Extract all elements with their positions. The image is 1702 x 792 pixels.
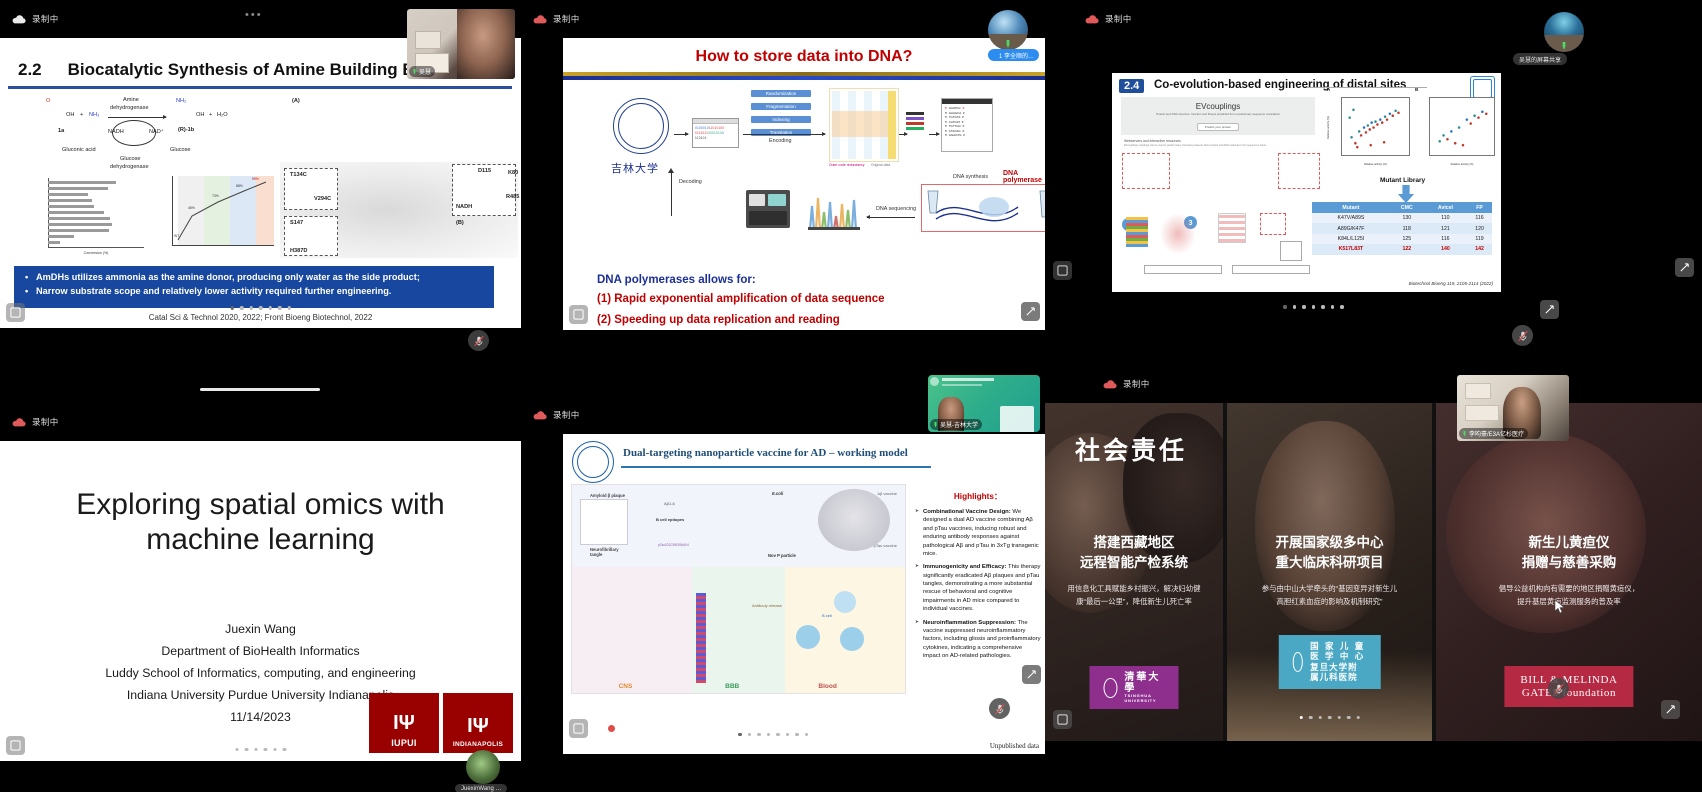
iu-trident-icon: ΙΨ <box>393 713 415 733</box>
csr-badge-name: 清華大學 <box>1124 672 1164 694</box>
axis-x-label-a: Relative activity (%) <box>1341 163 1410 166</box>
csr-body-line2: 提升基层黄疸监测服务的普及率 <box>1448 596 1690 609</box>
recording-label-6: 录制中 <box>1123 378 1150 390</box>
scheme-o: O <box>46 98 50 104</box>
cloud-record-icon <box>1103 380 1117 389</box>
mic-muted-icon-1[interactable] <box>468 330 489 351</box>
scheme-gluconic: Gluconic acid <box>62 147 96 153</box>
recording-bar-6: 录制中 <box>1045 365 1702 403</box>
recording-label-5: 录制中 <box>553 409 580 421</box>
label-encoding: Encoding <box>769 138 791 144</box>
label-outer-code: Outer code redundancy <box>829 163 864 167</box>
residue-k80: K80 <box>508 170 518 176</box>
csr-title-line2: 重大临床科研项目 <box>1227 553 1432 573</box>
webcam-nametag-6: 李昀豪/E3A亿杉医疗 <box>1459 428 1528 439</box>
polymerase-box <box>921 184 1045 232</box>
webcam-thumbnail-6[interactable]: 李昀豪/E3A亿杉医疗 <box>1457 375 1569 441</box>
csr-title-line1: 新生儿黄疸仪 <box>1436 533 1702 553</box>
slide-csr: 社会责任 搭建西藏地区 远程智能产检系统 用信息化工具赋能乡村振兴，解决妇幼健 … <box>1045 403 1702 741</box>
author-department: Department of BioHealth Informatics <box>0 641 521 663</box>
scheme-gdh-2: dehydrogenase <box>110 164 149 170</box>
fudan-seal-icon <box>1292 652 1303 672</box>
csr-title-line2: 捐赠与慈善采购 <box>1436 553 1702 573</box>
table-row: K84L/L125I 125 116 119 <box>1312 234 1492 244</box>
residue-t134c: T134C <box>290 172 307 178</box>
scheme-arrow <box>108 117 166 118</box>
logo-label: IUPUI <box>391 738 417 748</box>
slide-number: 2.2 <box>18 60 42 79</box>
expand-share-button-3[interactable] <box>1053 261 1072 280</box>
logo-block: ΙΨ IUPUI ΙΨ INDIANAPOLIS <box>369 693 513 753</box>
participant-name-4: JuexinWang … <box>455 784 507 792</box>
csr-column: 社会责任 搭建西藏地区 远程智能产检系统 用信息化工具赋能乡村振兴，解决妇幼健 … <box>1045 403 1223 741</box>
csr-badge-name: 国 家 儿 童 医 学 中 心 <box>1310 641 1367 662</box>
label-dna-polymerase: DNA polymerase <box>1003 170 1042 184</box>
zone-label-bbb: BBB <box>725 683 739 690</box>
webcam-nametag-1: 吴慧 <box>409 66 435 77</box>
scheme-prod-oh: OH <box>196 112 204 118</box>
meeting-grid: 录制中 ••• 2.2Biocatalytic Synthesis of Ami… <box>0 0 1702 792</box>
fullscreen-button-6[interactable] <box>1661 700 1680 719</box>
table-row: A89G/K47F 118 121 120 <box>1312 223 1492 233</box>
author-name: Juexin Wang <box>0 619 521 641</box>
panel-csr[interactable]: 录制中 社会责任 搭建西藏地区 远程智能产检系统 用信息化工具赋能乡村振兴，解决… <box>1045 365 1702 792</box>
jlu-seal-icon <box>613 98 669 154</box>
cell-avicel: 116 <box>1424 234 1467 244</box>
down-arrow-icon <box>1397 185 1415 203</box>
cloud-record-icon <box>12 418 26 427</box>
label-ab16: Aβ1-6 <box>664 501 675 506</box>
column-header: FP <box>1467 202 1492 213</box>
citation: Catal Sci & Technol 2020, 2022; Front Bi… <box>0 313 521 322</box>
scheme-water: H₂O <box>217 112 228 118</box>
cell-avicel: 110 <box>1424 213 1467 223</box>
csr-column-title: 搭建西藏地区 远程智能产检系统 <box>1045 533 1223 572</box>
scheme-nh3: NH₃ <box>89 112 99 118</box>
csr-badge-tsinghua: 清華大學 TSINGHUA UNIVERSITY <box>1090 666 1179 709</box>
label-original-data: Original data <box>871 163 890 167</box>
panel-menu-dots[interactable]: ••• <box>245 9 263 21</box>
evcouplings-title: EVcouplings <box>1121 102 1315 111</box>
cloud-record-icon <box>1085 15 1099 24</box>
record-dot-indicator <box>608 725 615 732</box>
csr-title-line1: 开展国家级多中心 <box>1227 533 1432 553</box>
citation: Biotechnol Bioeng 119, 2105-2114 (2022) <box>1409 281 1493 286</box>
recording-bar-3: 录制中 <box>1045 0 1702 38</box>
panel-biocatalytic[interactable]: 录制中 ••• 2.2Biocatalytic Synthesis of Ami… <box>0 0 521 360</box>
expand-share-button-6[interactable] <box>1053 710 1072 729</box>
cloud-record-icon <box>12 15 26 24</box>
mutant-table: Mutant CMC Avicel FP K47V/A89S 130 110 1… <box>1312 202 1492 255</box>
slide-vaccine: Dual-targeting nanoparticle vaccine for … <box>563 434 1045 754</box>
highlight-lead: Combinational Vaccine Design: <box>923 509 1011 515</box>
csr-column-title: 开展国家级多中心 重大临床科研项目 <box>1227 533 1432 572</box>
cell-fp: 120 <box>1467 223 1492 233</box>
page-title: Biocatalytic Synthesis of Amine Building… <box>68 60 458 79</box>
logo-indianapolis: ΙΨ INDIANAPOLIS <box>443 693 513 753</box>
highlights-title: Highlights： <box>915 490 1041 502</box>
slide-coevolution: 2.4 Co-evolution-based engineering of di… <box>1112 73 1501 292</box>
csr-column-body: 倡导公益机构向有需要的地区捐赠黄疸仪， 提升基层黄疸监测服务的普及率 <box>1448 583 1690 609</box>
zone-label-blood: Blood <box>818 683 836 690</box>
presenter-avatar[interactable] <box>988 10 1028 50</box>
label-decoding: Decoding <box>679 179 702 185</box>
ev-resource-card <box>1226 153 1274 189</box>
author-school: Luddy School of Informatics, computing, … <box>0 663 521 685</box>
scheme-nh2: NH₂ <box>176 98 186 104</box>
cell-cmc: 130 <box>1390 213 1424 223</box>
cell-fp: 116 <box>1467 213 1492 223</box>
mutant-library-label: Mutant Library <box>1380 177 1425 184</box>
column-header: Avicel <box>1424 202 1467 213</box>
residue-d115: D115 <box>478 168 491 174</box>
axis-x-label-b: Relative activity (%) <box>1429 163 1495 166</box>
barcode-stack <box>906 112 924 130</box>
webcam-thumbnail-1[interactable]: 吴慧 <box>407 9 515 79</box>
label-ptau-vaccine: pTau vaccine <box>874 543 897 548</box>
callout-bullets: AmDHs utilizes ammonia as the amine dono… <box>14 266 494 308</box>
zone-label-cns: CNS <box>619 683 633 690</box>
step-chip: Fragmentation <box>751 103 811 110</box>
slide-number: 2.4 <box>1119 79 1144 93</box>
panel-dna[interactable]: 录制中 How to store data into DNA? 吉林大学 010… <box>521 0 1045 330</box>
recording-bar-4: 录制中 <box>0 403 521 441</box>
window-drag-handle[interactable] <box>200 388 320 391</box>
csr-title-line1: 搭建西藏地区 <box>1045 533 1223 553</box>
arrow-encoding <box>743 134 825 135</box>
csr-column-title: 新生儿黄疸仪 捐赠与慈善采购 <box>1436 533 1702 572</box>
cell-cmc: 125 <box>1390 234 1424 244</box>
scheme-product: (R)-1b <box>178 127 194 133</box>
highlight-lead: Immunogenicity and Efficacy: <box>923 564 1006 570</box>
cell-mutant: K47V/A89S <box>1312 213 1390 223</box>
scheme-nad: NAD⁺ <box>149 129 164 135</box>
evcouplings-sub: Protein and RNA structure, function and … <box>1131 113 1305 117</box>
webcam-nametag-5: 吴慧-吉林大学 <box>930 419 982 430</box>
recording-label-2: 录制中 <box>553 13 580 25</box>
webcam-thumbnail-5[interactable]: 吴慧-吉林大学 <box>928 375 1040 432</box>
csr-badge-fudan: 国 家 儿 童 医 学 中 心 复旦大学附属儿科医院 <box>1278 635 1381 690</box>
cloud-record-icon <box>533 411 547 420</box>
scheme-panel-a: (A) <box>292 98 300 104</box>
fullscreen-button-topright[interactable] <box>1540 300 1559 319</box>
jlu-wordmark: 吉林大学 <box>611 160 671 176</box>
title-rule <box>1307 87 1427 88</box>
scheme-oh: OH <box>66 112 74 118</box>
screenshare-avatar[interactable] <box>1544 12 1584 52</box>
recording-label-1: 录制中 <box>32 13 59 25</box>
scheme-nadh: NADH <box>108 129 124 135</box>
lead-text: DNA polymerases allows for: <box>597 274 756 286</box>
ev-section-sub: EVcouplings couplings can be used to pre… <box>1124 144 1314 147</box>
scheme-plus2: + <box>209 112 212 118</box>
scheme-gdh-1: Glucose <box>120 156 141 162</box>
highlight-body: We designed a dual AD vaccine combining … <box>923 509 1039 557</box>
step-chip: Indexing <box>751 116 811 123</box>
recording-label-3: 录制中 <box>1105 13 1132 25</box>
panel-vaccine[interactable]: 录制中 Dual-targeting nanoparticle vaccine … <box>521 365 1045 792</box>
bullet-item: Narrow substrate scope and relatively lo… <box>22 284 486 298</box>
screenshare-label: 吴慧的屏幕共享 <box>1513 53 1567 65</box>
csr-column: 开展国家级多中心 重大临床科研项目 参与由中山大学牵头的“基因变异对新生儿 高胆… <box>1227 403 1432 741</box>
page-title: How to store data into DNA? <box>563 48 1045 66</box>
recording-label-4: 录制中 <box>32 416 59 428</box>
label-ptau: pTau202/205/396/404 <box>658 543 689 547</box>
cell-avicel: 121 <box>1424 223 1467 233</box>
label-tangle: Neurofibrillary tangle <box>590 547 630 557</box>
slide-dna: How to store data into DNA? 吉林大学 0100010… <box>563 38 1045 330</box>
highlights-block: Highlights： Combinational Vaccine Design… <box>915 490 1041 665</box>
csr-badge-sub: GATES foundation <box>1520 687 1617 699</box>
binary-window: 010001011010100 011101100010100 110101 <box>692 118 739 148</box>
label-dna-synthesis: DNA synthesis <box>953 174 988 180</box>
sequencer-machine <box>746 190 790 228</box>
ev-resource-card <box>1278 153 1320 189</box>
ev-resource-card <box>1174 153 1222 189</box>
label-dna-sequencing: DNA sequencing <box>876 206 916 212</box>
highlight-body: This therapy significantly eradicated Aβ… <box>923 564 1040 612</box>
scheme-substrate: 1a <box>58 128 64 134</box>
expand-share-button-2[interactable] <box>569 305 588 324</box>
institute-logo-icon <box>572 441 614 483</box>
scheme-plus: + <box>80 112 83 118</box>
chromatogram <box>807 192 861 230</box>
expand-share-button-4[interactable] <box>6 736 25 755</box>
table-header-row: Mutant CMC Avicel FP <box>1312 202 1492 213</box>
scheme-enzyme-2: dehydrogenase <box>110 105 149 111</box>
csr-body-line2: 高胆红素血症的影响及机制研究” <box>1239 596 1420 609</box>
highlight-item: Immunogenicity and Efficacy: This therap… <box>915 563 1041 613</box>
label-nov-p: Nov P particle <box>768 553 796 558</box>
cell-mutant: K84L/L125I <box>1312 234 1390 244</box>
slide-title-row: 2.2Biocatalytic Synthesis of Amine Build… <box>18 60 458 80</box>
point-item: (2) Speeding up data replication and rea… <box>597 314 840 326</box>
panel-label-b: B <box>1415 87 1418 92</box>
iu-trident-icon: ΙΨ <box>467 716 489 736</box>
csr-body-line1: 用信息化工具赋能乡村振兴，解决妇幼健 <box>1057 583 1211 596</box>
title-line-2: machine learning <box>0 522 521 557</box>
step-chip: Randomization <box>751 90 811 97</box>
cell-cmc: 122 <box>1390 244 1424 254</box>
figure-working-model: CNS BBB Blood Amyloid β plaque Neurofibr… <box>571 484 906 694</box>
csr-column-body: 参与由中山大学牵头的“基因变异对新生儿 高胆红素血症的影响及机制研究” <box>1239 583 1420 609</box>
bullet-item: AmDHs utilizes ammonia as the amine dono… <box>22 270 486 284</box>
csr-badge-gates: BILL & MELINDA GATES foundation <box>1504 666 1633 707</box>
slide-title: Exploring spatial omics with machine lea… <box>0 441 521 761</box>
ev-resource-card <box>1122 153 1170 189</box>
table-row: K517L83T 122 140 142 <box>1312 244 1492 254</box>
mouse-cursor <box>1555 600 1565 619</box>
expand-share-button-1[interactable] <box>6 303 25 322</box>
tsinghua-seal-icon <box>1104 678 1118 698</box>
expand-share-button-5[interactable] <box>569 719 588 738</box>
title-rule <box>8 86 512 89</box>
page-title: Exploring spatial omics with machine lea… <box>0 487 521 558</box>
csr-badge-name: BILL & MELINDA <box>1520 674 1617 686</box>
figure-dna-workflow: 吉林大学 010001011010100 011101100010100 110… <box>571 84 1041 274</box>
residue-nadh: NADH <box>456 204 472 210</box>
unpublished-note: Unpublished data <box>990 742 1039 750</box>
evcouplings-card: EVcouplings Protein and RNA structure, f… <box>1121 97 1315 135</box>
residue-s147: S147 <box>290 220 303 226</box>
figure-scheme: O OH + NH₃ 1a Amine dehydrogenase NADH N… <box>10 96 510 256</box>
highlight-lead: Neuroinflammation Suppression: <box>923 620 1016 626</box>
presenter-badge: 1 李全顺的… <box>988 49 1039 61</box>
cell-fp: 119 <box>1467 234 1492 244</box>
residue-v294c: V294C <box>314 196 331 202</box>
ev-section-title: Webservers and interactive resources <box>1124 139 1181 143</box>
fullscreen-button-2[interactable] <box>1021 302 1040 321</box>
scatter-plot-b: B Relative activity (%) <box>1415 95 1497 170</box>
scheme-panel-b: (B) <box>456 220 464 226</box>
highlight-item: Combinational Vaccine Design: We designe… <box>915 508 1041 558</box>
logo-iupui: ΙΨ IUPUI <box>369 693 439 753</box>
slide-pagination-5[interactable] <box>738 733 808 737</box>
panel-label-a: A <box>1327 87 1330 92</box>
slide-pagination-6[interactable] <box>1299 716 1360 720</box>
recording-bar-2: 录制中 <box>521 0 1045 38</box>
csr-title-line2: 远程智能产检系统 <box>1045 553 1223 573</box>
slide-pagination-3[interactable] <box>1283 305 1344 309</box>
slide-biocatalytic: 2.2Biocatalytic Synthesis of Amine Build… <box>0 38 521 328</box>
column-header: CMC <box>1390 202 1424 213</box>
label-bcell-epitopes: B cell epitopes <box>656 517 684 522</box>
csr-body-line1: 倡导公益机构向有需要的地区捐赠黄疸仪， <box>1448 583 1690 596</box>
participant-avatar-4[interactable] <box>466 750 500 784</box>
csr-column-body: 用信息化工具赋能乡村振兴，解决妇幼健 康“最后一公里”，降低新生儿死亡率 <box>1057 583 1211 609</box>
slide-pagination-1[interactable] <box>230 306 291 310</box>
label-ab-vaccine: Aβ vaccine <box>877 491 897 496</box>
cloud-record-icon <box>533 15 547 24</box>
cell-fp: 142 <box>1467 244 1492 254</box>
cell-mutant: K517L83T <box>1312 244 1390 254</box>
label-amyloid: Amyloid β plaque <box>590 493 625 498</box>
scatter-plot-a: A <box>1327 95 1412 170</box>
csr-badge-sub: 复旦大学附属儿科医院 <box>1310 662 1367 683</box>
cell-mutant: A89G/K47F <box>1312 223 1390 233</box>
fullscreen-button-3[interactable] <box>1675 258 1694 277</box>
msa-network-figure <box>1122 195 1317 283</box>
arrow-to-binary <box>674 134 688 135</box>
cell-avicel: 140 <box>1424 244 1467 254</box>
highlight-item: Neuroinflammation Suppression: The vacci… <box>915 619 1041 661</box>
cell-cmc: 118 <box>1390 223 1424 233</box>
mic-muted-icon-6[interactable] <box>1548 678 1569 699</box>
csr-badge-sub: TSINGHUA UNIVERSITY <box>1124 694 1164 703</box>
bar-xlabel: Conversion (%) <box>48 251 144 255</box>
page-title: Dual-targeting nanoparticle vaccine for … <box>623 447 908 459</box>
mic-muted-icon-5[interactable] <box>989 698 1010 719</box>
axis-y-label-a: Relative activity (%) <box>1327 116 1330 139</box>
csr-heading: 社会责任 <box>1075 431 1187 467</box>
title-rule <box>621 466 931 468</box>
csr-body-line1: 参与由中山大学牵头的“基因变异对新生儿 <box>1239 583 1420 596</box>
label-b-cell: B cell <box>822 613 832 618</box>
mic-muted-icon-topright[interactable] <box>1512 325 1533 346</box>
residue-r485: R485 <box>506 194 519 200</box>
scheme-glucose: Glucose <box>170 147 191 153</box>
slide-pagination-4[interactable] <box>235 748 286 752</box>
panel-coevolution[interactable]: 录制中 2.4 Co-evolution-based engineering o… <box>1045 0 1702 345</box>
encoded-matrix <box>829 88 899 162</box>
predict-protein-button[interactable]: Predict your protein <box>1197 123 1239 131</box>
csr-body-line2: 康“最后一公里”，降低新生儿死亡率 <box>1057 596 1211 609</box>
chart-evolution-line: WT 45% 73% 88% 99% <box>152 176 274 254</box>
chart-conversion-bars: Conversion (%) <box>26 178 144 254</box>
scheme-enzyme-1: Amine <box>123 97 139 103</box>
figure-protein-structure: T134C V294C S147 H387D D115 NADH K80 R48… <box>280 162 518 258</box>
csr-column: 新生儿黄疸仪 捐赠与慈善采购 倡导公益机构向有需要的地区捐赠黄疸仪， 提升基层黄… <box>1436 403 1702 741</box>
title-rule-blue <box>563 76 1045 80</box>
fullscreen-button-5[interactable] <box>1022 665 1041 684</box>
table-row: K47V/A89S 130 110 116 <box>1312 213 1492 223</box>
point-item: (1) Rapid exponential amplification of d… <box>597 293 885 305</box>
panel-title-slide[interactable]: 录制中 Exploring spatial omics with machine… <box>0 365 521 792</box>
page-title: Co-evolution-based engineering of distal… <box>1154 79 1406 91</box>
sequence-list: 5' GAATGC 3' 5' GAAGCA 3' 5' TGTGTA 3' 5… <box>941 98 993 152</box>
logo-label: INDIANAPOLIS <box>453 741 503 748</box>
title-line-1: Exploring spatial omics with <box>0 487 521 522</box>
residue-h387d: H387D <box>290 248 307 254</box>
column-header: Mutant <box>1312 202 1390 213</box>
label-antibody-release: Antibody release <box>752 603 782 608</box>
label-ecoli: E.coli <box>772 491 783 496</box>
